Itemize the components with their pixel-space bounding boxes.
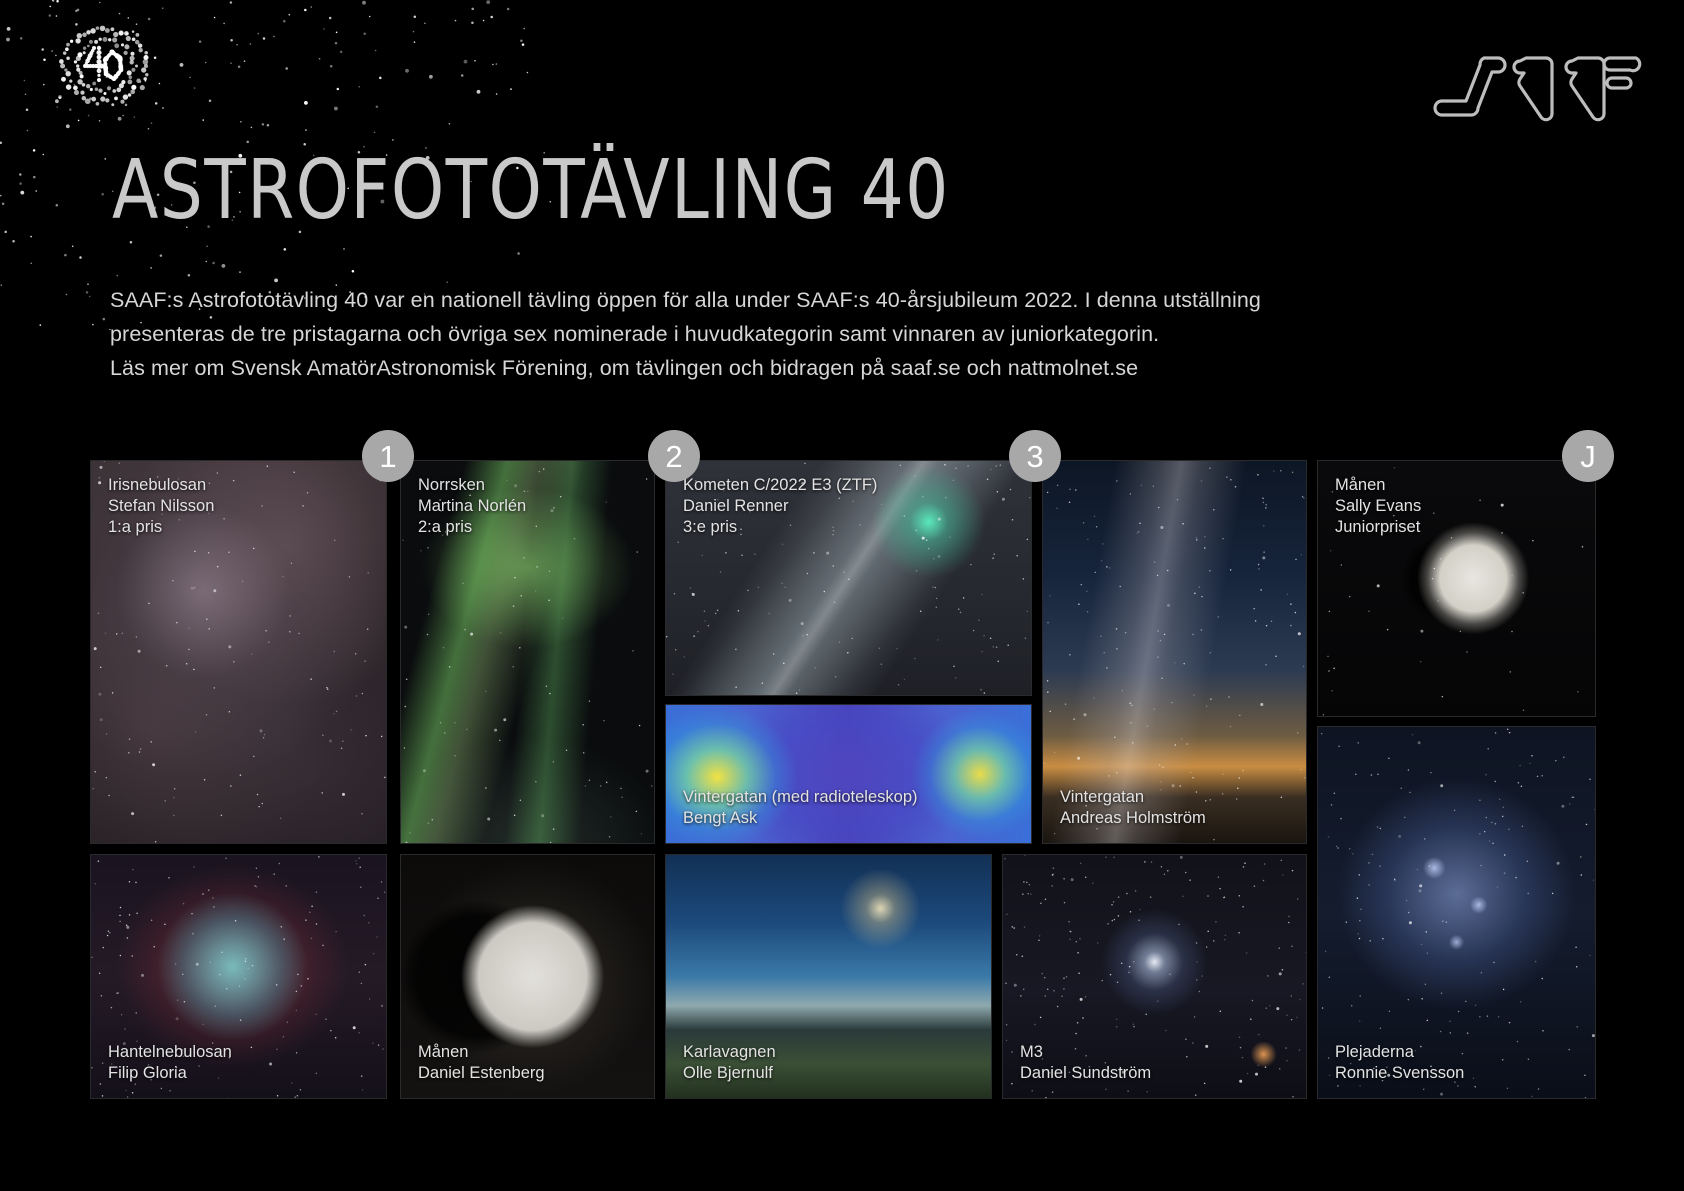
gallery-item[interactable]: Plejaderna Ronnie Svensson [1317,726,1596,1099]
photo-prize: 1:a pris [108,517,214,538]
photo-caption: Norrsken Martina Norlén 2:a pris [418,475,526,538]
photo-author: Sally Evans [1335,496,1421,517]
photo-prize: 2:a pris [418,517,526,538]
photo-caption: Kometen C/2022 E3 (ZTF) Daniel Renner 3:… [683,475,877,538]
photo-author: Ronnie Svensson [1335,1063,1464,1084]
gallery-item[interactable]: Hantelnebulosan Filip Gloria [90,854,387,1099]
rank-badge-3: 3 [1009,430,1061,482]
gallery-item[interactable]: M3 Daniel Sundström [1002,854,1307,1099]
photo-gallery: Irisnebulosan Stefan Nilsson 1:a pris No… [90,444,1596,1099]
page-title: ASTROFOTOTÄVLING 40 [112,148,950,234]
photo-author: Daniel Estenberg [418,1063,545,1084]
poster-root: ASTROFOTOTÄVLING 40 SAAF:s Astrofototävl… [0,0,1684,1191]
photo-prize: Juniorpriset [1335,517,1421,538]
photo-caption: Hantelnebulosan Filip Gloria [108,1042,232,1084]
gallery-item[interactable]: Karlavagnen Olle Bjernulf [665,854,992,1099]
gallery-item[interactable]: Månen Daniel Estenberg [400,854,655,1099]
photo-caption: Månen Sally Evans Juniorpriset [1335,475,1421,538]
photo-title: M3 [1020,1042,1151,1063]
photo-caption: Vintergatan Andreas Holmström [1060,787,1206,829]
photo-caption: Plejaderna Ronnie Svensson [1335,1042,1464,1084]
photo-title: Månen [1335,475,1421,496]
rank-badge-2: 2 [648,430,700,482]
gallery-item[interactable]: Norrsken Martina Norlén 2:a pris [400,460,655,844]
photo-caption: Vintergatan (med radioteleskop) Bengt As… [683,787,918,829]
photo-title: Kometen C/2022 E3 (ZTF) [683,475,877,496]
intro-line-2: presenteras de tre pristagarna och övrig… [110,317,1580,351]
photo-title: Plejaderna [1335,1042,1464,1063]
photo-caption: M3 Daniel Sundström [1020,1042,1151,1084]
photo-author: Stefan Nilsson [108,496,214,517]
intro-paragraph: SAAF:s Astrofototävling 40 var en nation… [110,283,1580,385]
photo-prize: 3:e pris [683,517,877,538]
photo-author: Martina Norlén [418,496,526,517]
photo-author: Filip Gloria [108,1063,232,1084]
intro-line-3: Läs mer om Svensk AmatörAstronomisk Före… [110,351,1580,385]
photo-caption: Irisnebulosan Stefan Nilsson 1:a pris [108,475,214,538]
photo-author: Olle Bjernulf [683,1063,776,1084]
photo-author: Daniel Sundström [1020,1063,1151,1084]
rank-badge-junior: J [1562,430,1614,482]
rank-badge-1: 1 [362,430,414,482]
gallery-item[interactable]: Vintergatan Andreas Holmström [1042,460,1307,844]
photo-title: Månen [418,1042,545,1063]
gallery-item[interactable]: Kometen C/2022 E3 (ZTF) Daniel Renner 3:… [665,460,1032,696]
photo-title: Karlavagnen [683,1042,776,1063]
intro-line-1: SAAF:s Astrofototävling 40 var en nation… [110,283,1580,317]
photo-title: Norrsken [418,475,526,496]
gallery-item[interactable]: Irisnebulosan Stefan Nilsson 1:a pris [90,460,387,844]
photo-author: Daniel Renner [683,496,877,517]
photo-author: Andreas Holmström [1060,808,1206,829]
saaf-logo [1432,46,1642,128]
photo-title: Irisnebulosan [108,475,214,496]
gallery-item[interactable]: Vintergatan (med radioteleskop) Bengt As… [665,704,1032,844]
photo-caption: Karlavagnen Olle Bjernulf [683,1042,776,1084]
photo-author: Bengt Ask [683,808,918,829]
gallery-item[interactable]: Månen Sally Evans Juniorpriset [1317,460,1596,717]
photo-caption: Månen Daniel Estenberg [418,1042,545,1084]
photo-title: Vintergatan [1060,787,1206,808]
photo-title: Hantelnebulosan [108,1042,232,1063]
photo-title: Vintergatan (med radioteleskop) [683,787,918,808]
